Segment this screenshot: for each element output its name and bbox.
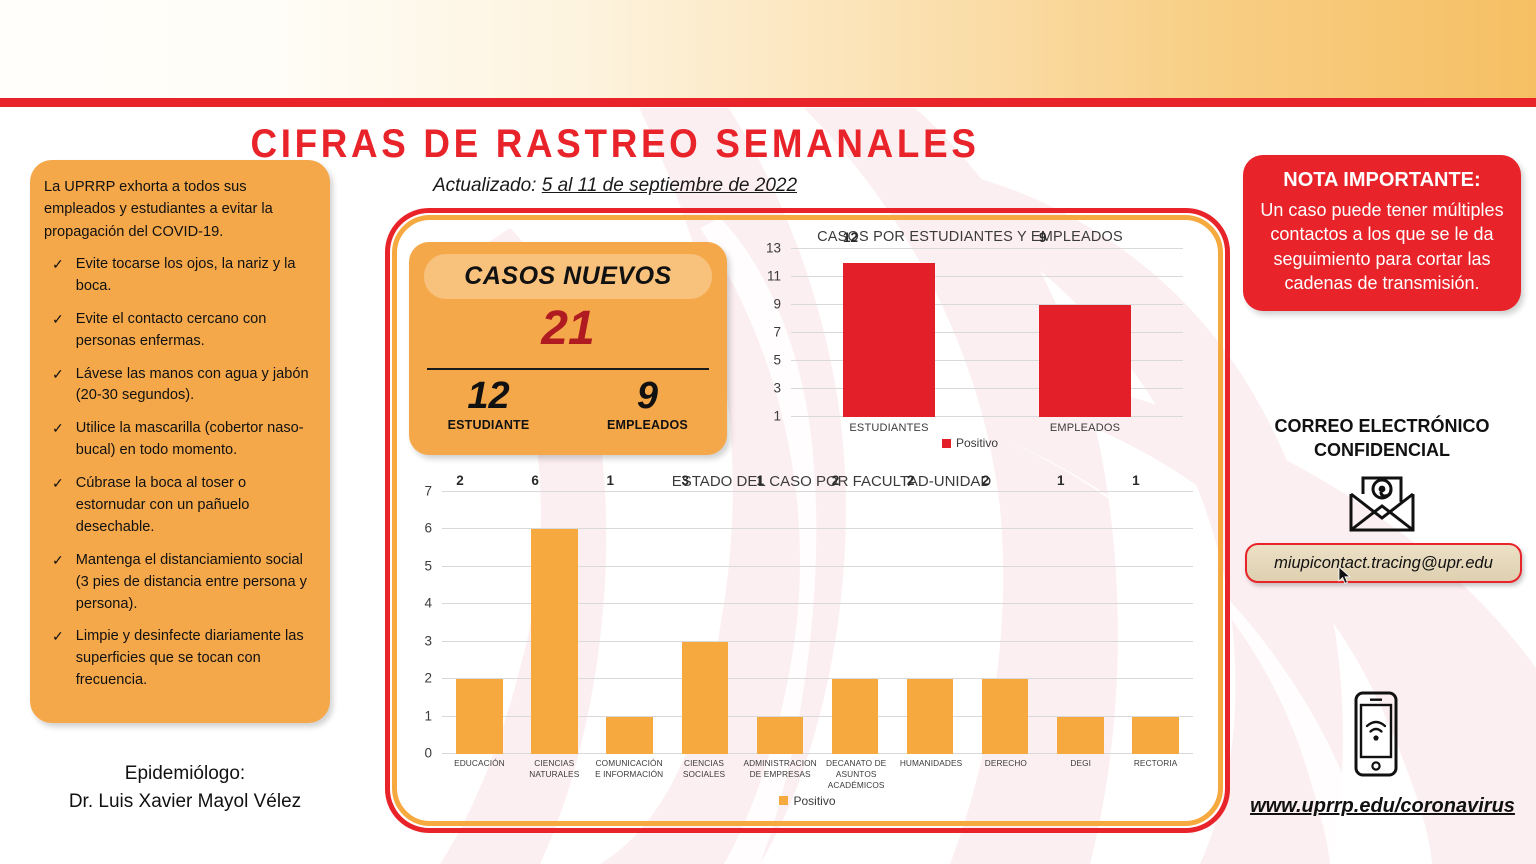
tip-item-label: Utilice la mascarilla (cobertor naso-buc… xyxy=(76,418,312,462)
epidemiologist-name: Dr. Luis Xavier Mayol Vélez xyxy=(0,788,370,816)
bar-cell: 1 xyxy=(1118,492,1193,754)
bar-cell: 2 xyxy=(817,492,892,754)
checkmark-icon: ✓ xyxy=(52,309,64,353)
confidential-email-field[interactable]: miupicontact.tracing@upr.edu xyxy=(1245,543,1522,583)
charts-panel: CASOS NUEVOS 21 12 ESTUDIANTE 9 EMPLEADO… xyxy=(392,215,1223,826)
bar-value-label: 1 xyxy=(1132,473,1140,488)
bar-cell: 2 xyxy=(442,492,517,754)
bar-cell: 12 xyxy=(791,249,987,417)
bar: 1 xyxy=(1057,717,1104,754)
confidential-email-heading-line2: CONFIDENCIAL xyxy=(1243,439,1521,463)
tip-item: ✓Evite tocarse los ojos, la nariz y la b… xyxy=(44,254,312,298)
bar-value-label: 9 xyxy=(1039,230,1047,245)
y-axis-tick: 4 xyxy=(424,596,432,611)
y-axis-tick: 0 xyxy=(424,746,432,761)
x-axis-label: CIENCIAS SOCIALES xyxy=(667,758,742,792)
tips-list: ✓Evite tocarse los ojos, la nariz y la b… xyxy=(44,254,312,692)
bar: 2 xyxy=(907,679,954,754)
x-axis-label: EMPLEADOS xyxy=(987,422,1183,434)
tip-item: ✓Utilice la mascarilla (cobertor naso-bu… xyxy=(44,418,312,462)
y-axis-tick: 7 xyxy=(424,484,432,499)
checkmark-icon: ✓ xyxy=(52,550,64,616)
bar: 9 xyxy=(1039,305,1131,417)
bar-value-label: 2 xyxy=(832,473,840,488)
bar-value-label: 1 xyxy=(757,473,765,488)
new-cases-students: 12 ESTUDIANTE xyxy=(409,376,568,432)
tip-item-label: Mantenga el distanciamiento social (3 pi… xyxy=(76,550,312,616)
subtitle-date: 5 al 11 de septiembre de 2022 xyxy=(542,175,797,196)
new-cases-total: 21 xyxy=(409,301,727,356)
page-header xyxy=(0,0,1536,98)
bar-value-label: 6 xyxy=(531,473,539,488)
bar-value-label: 2 xyxy=(907,473,915,488)
bar-cell: 2 xyxy=(968,492,1043,754)
bar: 1 xyxy=(606,717,653,754)
students-value: 12 xyxy=(409,376,568,418)
employees-value: 9 xyxy=(568,376,727,418)
bar: 1 xyxy=(1132,717,1179,754)
chart-students-employees-legend: Positivo xyxy=(735,436,1205,450)
legend-swatch-icon xyxy=(779,796,788,805)
checkmark-icon: ✓ xyxy=(52,254,64,298)
bar-value-label: 2 xyxy=(456,473,464,488)
chart-faculty-unit-xaxis: EDUCACIÓNCIENCIAS NATURALESCOMUNICACIÓN … xyxy=(442,758,1193,792)
tip-item: ✓Cúbrase la boca al toser o estornudar c… xyxy=(44,473,312,539)
chart-faculty-unit-plot: 012345672613122211 xyxy=(442,492,1193,754)
tip-item-label: Evite el contacto cercano con personas e… xyxy=(76,309,312,353)
important-note-title: NOTA IMPORTANTE: xyxy=(1259,169,1505,192)
checkmark-icon: ✓ xyxy=(52,364,64,408)
bars-container: 2613122211 xyxy=(442,492,1193,754)
bar-cell: 2 xyxy=(893,492,968,754)
x-axis-label: DECANATO DE ASUNTOS ACADÉMICOS xyxy=(819,758,894,792)
y-axis-tick: 13 xyxy=(766,241,781,256)
chart-students-employees-plot: 135791113129 xyxy=(791,249,1183,417)
checkmark-icon: ✓ xyxy=(52,473,64,539)
y-axis-tick: 9 xyxy=(773,297,781,312)
smartphone-wifi-icon xyxy=(1348,690,1404,783)
y-axis-tick: 1 xyxy=(773,409,781,424)
confidential-email-value: miupicontact.tracing@upr.edu xyxy=(1274,554,1493,573)
bar-cell: 3 xyxy=(667,492,742,754)
tip-item-label: Cúbrase la boca al toser o estornudar co… xyxy=(76,473,312,539)
tip-item: ✓Limpie y desinfecte diariamente las sup… xyxy=(44,626,312,692)
epidemiologist-credit: Epidemiólogo: Dr. Luis Xavier Mayol Véle… xyxy=(0,760,370,815)
tip-item-label: Lávese las manos con agua y jabón (20-30… xyxy=(76,364,312,408)
x-axis-label: DEGI xyxy=(1043,758,1118,792)
chart-students-employees-title: CASOS POR ESTUDIANTES Y EMPLEADOS xyxy=(735,229,1205,245)
bar: 3 xyxy=(682,642,729,754)
x-axis-label: ESTUDIANTES xyxy=(791,422,987,434)
y-axis-tick: 11 xyxy=(767,269,781,284)
bar: 2 xyxy=(456,679,503,754)
y-axis-tick: 3 xyxy=(773,381,781,396)
bar-value-label: 1 xyxy=(1057,473,1065,488)
chart-faculty-unit-title: ESTADO DEL CASO POR FACULTAD-UNIDAD xyxy=(392,473,1223,490)
envelope-at-icon xyxy=(1343,472,1421,539)
tip-item-label: Evite tocarse los ojos, la nariz y la bo… xyxy=(76,254,312,298)
bar-value-label: 2 xyxy=(982,473,990,488)
coronavirus-site-link[interactable]: www.uprrp.edu/coronavirus xyxy=(1235,795,1530,818)
tip-item-label: Limpie y desinfecte diariamente las supe… xyxy=(76,626,312,692)
header-divider xyxy=(0,98,1536,107)
y-axis-tick: 7 xyxy=(773,325,781,340)
students-label: ESTUDIANTE xyxy=(409,418,568,432)
bar: 2 xyxy=(832,679,879,754)
bar: 6 xyxy=(531,529,578,754)
legend-swatch-icon xyxy=(942,439,951,448)
employees-label: EMPLEADOS xyxy=(568,418,727,432)
bar-value-label: 3 xyxy=(682,473,690,488)
important-note-card: NOTA IMPORTANTE: Un caso puede tener múl… xyxy=(1243,155,1521,311)
y-axis-tick: 1 xyxy=(424,708,432,723)
bar: 1 xyxy=(757,717,804,754)
confidential-email-heading-line1: CORREO ELECTRÓNICO xyxy=(1243,415,1521,439)
bar-cell: 1 xyxy=(1043,492,1118,754)
legend-label: Positivo xyxy=(956,436,998,450)
chart-students-employees: CASOS POR ESTUDIANTES Y EMPLEADOS 135791… xyxy=(735,229,1205,461)
epidemiologist-role: Epidemiólogo: xyxy=(0,760,370,788)
y-axis-tick: 6 xyxy=(424,521,432,536)
new-cases-divider xyxy=(427,368,709,370)
prevention-tips-card: La UPRRP exhorta a todos sus empleados y… xyxy=(30,160,330,723)
y-axis-tick: 3 xyxy=(424,633,432,648)
bar-cell: 1 xyxy=(592,492,667,754)
y-axis-tick: 5 xyxy=(424,558,432,573)
chart-faculty-unit: ESTADO DEL CASO POR FACULTAD-UNIDAD 0123… xyxy=(392,473,1223,821)
x-axis-label: COMUNICACIÓN E INFORMACIÓN xyxy=(592,758,667,792)
bar-value-label: 12 xyxy=(843,230,858,245)
chart-faculty-unit-legend: Positivo xyxy=(392,794,1223,808)
tip-item: ✓Mantenga el distanciamiento social (3 p… xyxy=(44,550,312,616)
checkmark-icon: ✓ xyxy=(52,418,64,462)
x-axis-label: RECTORIA xyxy=(1118,758,1193,792)
bars-container: 129 xyxy=(791,249,1183,417)
bar-cell: 9 xyxy=(987,249,1183,417)
x-axis-label: EDUCACIÓN xyxy=(442,758,517,792)
tip-item: ✓Lávese las manos con agua y jabón (20-3… xyxy=(44,364,312,408)
new-cases-card: CASOS NUEVOS 21 12 ESTUDIANTE 9 EMPLEADO… xyxy=(409,242,727,455)
x-axis-label: DERECHO xyxy=(968,758,1043,792)
important-note-body: Un caso puede tener múltiples contactos … xyxy=(1259,198,1505,295)
new-cases-breakdown: 12 ESTUDIANTE 9 EMPLEADOS xyxy=(409,376,727,432)
bar-value-label: 1 xyxy=(606,473,614,488)
bar: 2 xyxy=(982,679,1029,754)
tip-item: ✓Evite el contacto cercano con personas … xyxy=(44,309,312,353)
y-axis-tick: 5 xyxy=(773,353,781,368)
bar-cell: 6 xyxy=(517,492,592,754)
tips-intro: La UPRRP exhorta a todos sus empleados y… xyxy=(44,176,312,243)
x-axis-label: ADMINISTRACION DE EMPRESAS xyxy=(741,758,818,792)
checkmark-icon: ✓ xyxy=(52,626,64,692)
x-axis-label: HUMANIDADES xyxy=(894,758,969,792)
chart-students-employees-xaxis: ESTUDIANTESEMPLEADOS xyxy=(791,422,1183,434)
subtitle-label: Actualizado: xyxy=(433,175,537,196)
bulletin-page: BOLETÍN INFORMATIVO COVID-19 xyxy=(0,0,1536,864)
bar-cell: 1 xyxy=(742,492,817,754)
bar: 12 xyxy=(843,263,935,417)
confidential-email-heading: CORREO ELECTRÓNICO CONFIDENCIAL xyxy=(1243,415,1521,463)
y-axis-tick: 2 xyxy=(424,671,432,686)
x-axis-label: CIENCIAS NATURALES xyxy=(517,758,592,792)
legend-label: Positivo xyxy=(793,794,835,808)
new-cases-heading: CASOS NUEVOS xyxy=(424,254,712,299)
new-cases-employees: 9 EMPLEADOS xyxy=(568,376,727,432)
